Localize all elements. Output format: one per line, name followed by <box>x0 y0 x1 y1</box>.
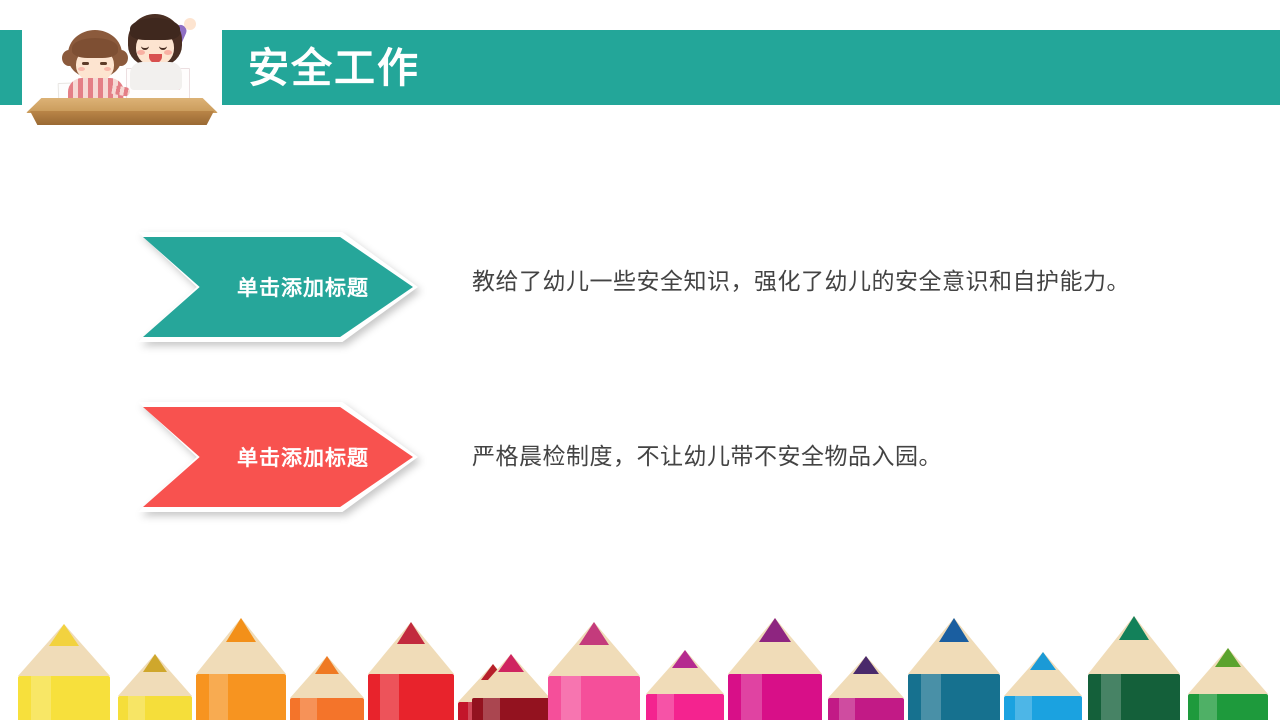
chevron-banner-2[interactable]: 单击添加标题 <box>138 402 418 512</box>
pencil <box>646 650 724 720</box>
chevron-banner-1-label: 单击添加标题 <box>208 232 398 342</box>
pencil-barrel <box>646 694 724 720</box>
pencil-barrel <box>828 698 904 720</box>
pencil-lead <box>397 622 425 644</box>
pencil <box>290 656 364 720</box>
header-accent-block <box>0 30 22 105</box>
pencil <box>118 654 192 720</box>
pencil-lead <box>1215 648 1241 667</box>
pencil-barrel <box>118 696 192 720</box>
pencil-barrel <box>290 698 364 720</box>
pencil <box>1188 648 1268 720</box>
pencil-lead <box>143 654 167 672</box>
pencil <box>18 624 110 720</box>
chevron-banner-2-label: 单击添加标题 <box>208 402 398 512</box>
pencil <box>908 618 1000 720</box>
pencil <box>472 654 550 720</box>
pencil-barrel <box>368 674 454 720</box>
desk-surface <box>26 98 218 113</box>
eye-right <box>100 62 107 65</box>
chevron-banner-1[interactable]: 单击添加标题 <box>138 232 418 342</box>
pencil <box>1088 616 1180 720</box>
pencil <box>728 618 822 720</box>
pencil-lead <box>939 618 969 642</box>
kids-illustration <box>22 10 222 130</box>
pencil <box>368 622 454 720</box>
desk-front-edge <box>30 111 214 125</box>
pencil-barrel <box>1004 696 1082 720</box>
pencil-lead <box>315 656 339 674</box>
pencil <box>548 622 640 720</box>
pencil-lead <box>1119 616 1149 640</box>
pencil-barrel <box>548 676 640 720</box>
pencil-barrel <box>908 674 1000 720</box>
kid-girl-figure <box>118 12 204 102</box>
pencil-barrel <box>472 698 550 720</box>
pencil <box>196 618 286 720</box>
pencil-lead <box>49 624 79 646</box>
pencil-lead <box>759 618 791 642</box>
pencil-barrel <box>196 674 286 720</box>
slide-header: 安全工作 <box>0 0 1280 135</box>
pencil-barrel <box>1088 674 1180 720</box>
blush-right <box>104 67 111 71</box>
pencil-lead <box>579 622 609 645</box>
eye-left <box>82 62 89 65</box>
pencil-lead <box>498 654 524 672</box>
pencil <box>828 656 904 720</box>
pencil-lead <box>853 656 879 674</box>
shirt <box>130 62 182 90</box>
blush-left <box>137 50 145 55</box>
pencil-lead <box>1030 652 1056 670</box>
pencil <box>1004 652 1082 720</box>
blush-left <box>78 67 85 71</box>
hand <box>184 18 196 30</box>
hair-fringe <box>130 18 180 40</box>
hair-fringe <box>72 38 118 58</box>
page-title: 安全工作 <box>248 44 420 92</box>
pencil-barrel <box>1188 694 1268 720</box>
colored-pencil-decoration <box>0 575 1280 720</box>
body-text-2: 严格晨检制度，不让幼儿带不安全物品入园。 <box>472 437 1182 476</box>
pencil-lead <box>226 618 256 642</box>
pencil-barrel <box>728 674 822 720</box>
body-text-1: 教给了幼儿一些安全知识，强化了幼儿的安全意识和自护能力。 <box>472 262 1182 301</box>
pencil-barrel <box>18 676 110 720</box>
blush-right <box>164 50 172 55</box>
pencil-lead <box>672 650 698 668</box>
